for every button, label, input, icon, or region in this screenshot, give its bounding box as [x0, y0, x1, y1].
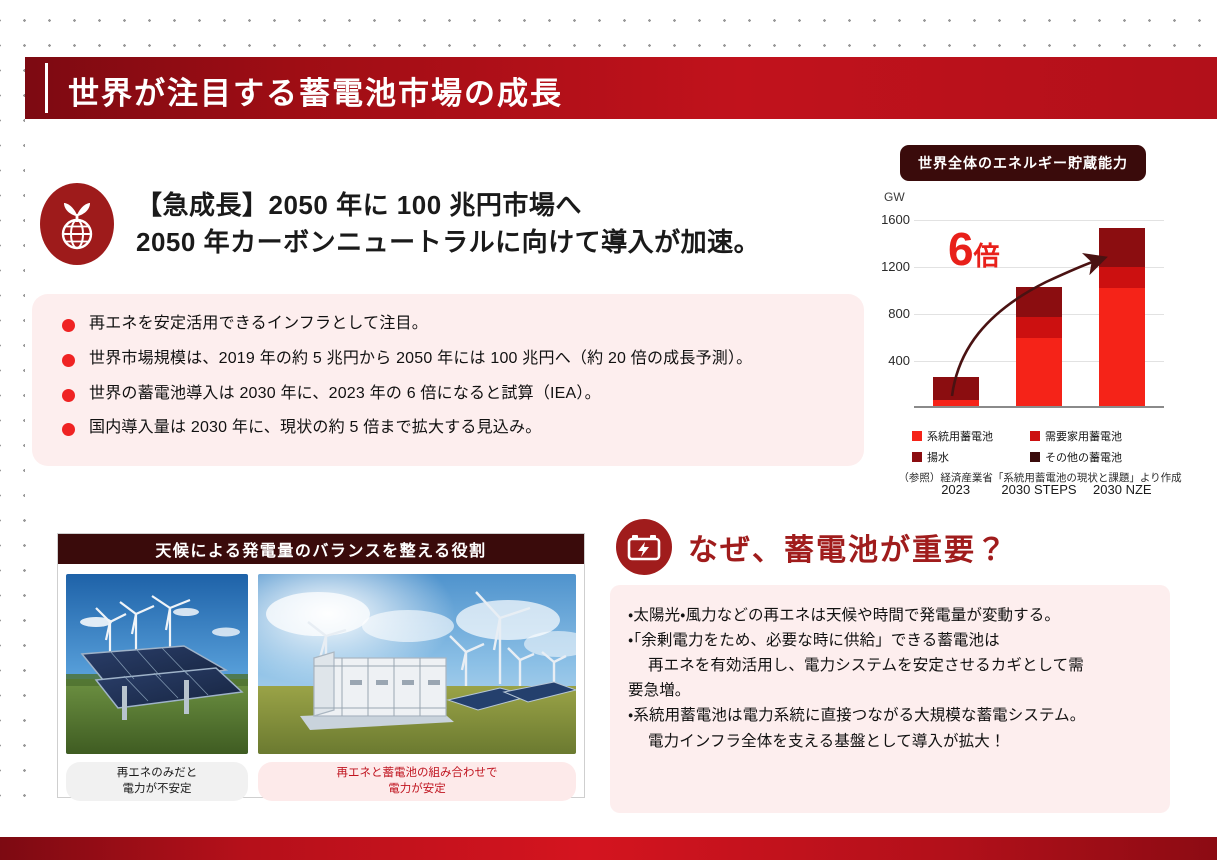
- globe-sprout-icon: [40, 183, 114, 265]
- bullet-dot-icon: [62, 423, 75, 436]
- legend-item: その他の蓄電池: [1030, 449, 1192, 465]
- bullet-dot-icon: [62, 319, 75, 332]
- why-panel: ・太陽光・風力などの再エネは天候や時間で発電量が変動する。 ・「余剰電力をため、…: [610, 585, 1170, 813]
- caption-row: 再エネのみだと 電力が不安定 再エネと蓄電池の組み合わせで 電力が安定: [58, 754, 584, 801]
- why-line: ・太陽光・風力などの再エネは天候や時間で発電量が変動する。: [628, 603, 1152, 628]
- lead-heading-row: 【急成長】2050 年に 100 兆円市場へ 2050 年カーボンニュートラルに…: [40, 183, 760, 265]
- chart-y-tick-label: 1600: [881, 212, 910, 227]
- lead-line-1: 【急成長】2050 年に 100 兆円市場へ: [136, 187, 760, 224]
- chart-y-tick-label: 800: [888, 306, 910, 321]
- why-line: ・系統用蓄電池は電力系統に直接つながる大規模な蓄電システム。 電力インフラ全体を…: [628, 703, 1152, 753]
- battery-storage-photo: [258, 574, 576, 754]
- lead-heading-text: 【急成長】2050 年に 100 兆円市場へ 2050 年カーボンニュートラルに…: [136, 187, 760, 261]
- chart-title-badge: 世界全体のエネルギー貯蔵能力: [900, 145, 1146, 181]
- bullets-panel: 再エネを安定活用できるインフラとして注目。 世界市場規模は、2019 年の約 5…: [32, 294, 864, 466]
- photo-row: [58, 564, 584, 754]
- legend-swatch: [1030, 431, 1040, 441]
- bullet-dot-icon: [62, 354, 75, 367]
- chart-unit-label: GW: [884, 190, 905, 204]
- bullet-text: 世界市場規模は、2019 年の約 5 兆円から 2050 年には 100 兆円へ…: [89, 349, 752, 370]
- footer-bar: [0, 837, 1217, 860]
- bullet-dot-icon: [62, 389, 75, 402]
- why-heading-row: なぜ、蓄電池が重要？: [616, 519, 1008, 575]
- page-title: 世界が注目する蓄電池市場の成長: [68, 68, 563, 113]
- why-title: なぜ、蓄電池が重要？: [688, 525, 1008, 569]
- legend-item: 系統用蓄電池: [912, 428, 1030, 444]
- chart-legend: 系統用蓄電池 需要家用蓄電池 揚水 その他の蓄電池: [912, 428, 1192, 465]
- bullet-text: 再エネを安定活用できるインフラとして注目。: [89, 314, 428, 335]
- legend-swatch: [912, 452, 922, 462]
- photo-comparison-panel: 天候による発電量のバランスを整える役割: [57, 533, 585, 798]
- legend-item: 需要家用蓄電池: [1030, 428, 1192, 444]
- bullet-item: 世界市場規模は、2019 年の約 5 兆円から 2050 年には 100 兆円へ…: [62, 349, 834, 370]
- legend-swatch: [912, 431, 922, 441]
- chart-source-note: （参照）経済産業省「系統用蓄電池の現状と課題」より作成: [880, 470, 1200, 485]
- caption-unstable: 再エネのみだと 電力が不安定: [66, 762, 248, 801]
- bullet-text: 世界の蓄電池導入は 2030 年に、2023 年の 6 倍になると試算（IEA）…: [89, 384, 601, 405]
- bullet-item: 国内導入量は 2030 年に、現状の約 5 倍まで拡大する見込み。: [62, 418, 834, 439]
- multiplier-suffix: 倍: [974, 241, 1000, 271]
- multiplier-number: 6: [948, 223, 974, 275]
- solar-wind-photo: [66, 574, 248, 754]
- legend-swatch: [1030, 452, 1040, 462]
- caption-stable: 再エネと蓄電池の組み合わせで 電力が安定: [258, 762, 576, 801]
- bullet-item: 再エネを安定活用できるインフラとして注目。: [62, 314, 834, 335]
- legend-label: 需要家用蓄電池: [1045, 428, 1122, 444]
- legend-label: 揚水: [927, 449, 949, 465]
- lead-line-2: 2050 年カーボンニュートラルに向けて導入が加速。: [136, 224, 760, 261]
- battery-bolt-icon: [616, 519, 672, 575]
- bullet-item: 世界の蓄電池導入は 2030 年に、2023 年の 6 倍になると試算（IEA）…: [62, 384, 834, 405]
- legend-item: 揚水: [912, 449, 1030, 465]
- chart-y-tick-label: 400: [888, 353, 910, 368]
- why-line: ・「余剰電力をため、必要な時に供給」できる蓄電池は 再エネを有効活用し、電力シス…: [628, 628, 1152, 703]
- multiplier-annotation: 6倍: [948, 222, 1000, 276]
- header-accent-rule: [45, 63, 48, 113]
- chart-y-tick-label: 1200: [881, 259, 910, 274]
- legend-label: 系統用蓄電池: [927, 428, 993, 444]
- bullet-text: 国内導入量は 2030 年に、現状の約 5 倍まで拡大する見込み。: [89, 418, 541, 439]
- photo-panel-header: 天候による発電量のバランスを整える役割: [58, 534, 584, 564]
- legend-label: その他の蓄電池: [1045, 449, 1122, 465]
